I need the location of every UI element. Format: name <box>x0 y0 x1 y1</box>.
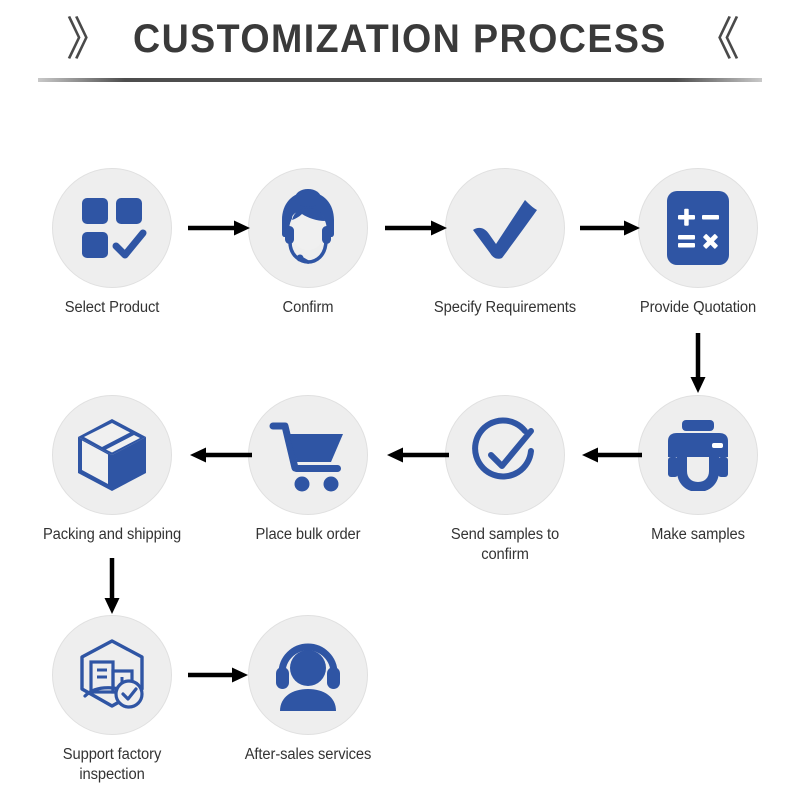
title-row: 》 CUSTOMIZATION PROCESS 《 <box>0 8 800 70</box>
step-after-sales-services[interactable]: After-sales services <box>228 615 388 765</box>
step-select-product[interactable]: Select Product <box>32 168 192 318</box>
package-box-icon <box>72 415 152 495</box>
arrow-select-to-confirm <box>188 219 252 237</box>
arrow-send-samples-to-bulk-order <box>385 446 449 464</box>
step-icon-bubble <box>52 395 172 515</box>
step-icon-bubble <box>52 168 172 288</box>
step-make-samples[interactable]: Make samples <box>618 395 778 545</box>
circle-check-icon <box>467 417 543 493</box>
checkmark-icon <box>467 190 543 266</box>
factory-inspection-icon <box>73 636 151 714</box>
step-packing-and-shipping[interactable]: Packing and shipping <box>32 395 192 545</box>
shopping-cart-icon <box>269 418 347 492</box>
page-header: 》 CUSTOMIZATION PROCESS 《 <box>0 0 800 95</box>
chevron-double-left-icon: 《 <box>694 16 734 62</box>
step-label: Make samples <box>622 525 774 545</box>
arrow-bulk-order-to-packing <box>188 446 252 464</box>
step-label: After-sales services <box>232 745 384 765</box>
printer-icon <box>660 419 736 491</box>
arrow-specify-to-quotation <box>580 219 642 237</box>
step-label: Place bulk order <box>232 525 384 545</box>
arrow-make-samples-to-send-samples <box>580 446 642 464</box>
step-icon-bubble <box>248 168 368 288</box>
step-label: Specify Requirements <box>429 298 581 318</box>
title-divider <box>38 78 762 82</box>
step-icon-bubble <box>445 168 565 288</box>
step-label: Support factory inspection <box>36 745 188 785</box>
chevron-double-right-icon: 》 <box>66 16 106 62</box>
arrow-quotation-to-make-samples <box>688 333 708 395</box>
step-icon-bubble <box>248 395 368 515</box>
step-place-bulk-order[interactable]: Place bulk order <box>228 395 388 545</box>
arrow-inspection-to-aftersales <box>188 666 250 684</box>
page-title: CUSTOMIZATION PROCESS <box>133 17 667 62</box>
step-confirm[interactable]: Confirm <box>228 168 388 318</box>
step-label: Confirm <box>232 298 384 318</box>
step-icon-bubble <box>638 395 758 515</box>
calculator-icon <box>663 189 733 267</box>
step-label: Packing and shipping <box>36 525 188 545</box>
step-support-factory-inspection[interactable]: Support factory inspection <box>32 615 192 785</box>
step-icon-bubble <box>52 615 172 735</box>
step-provide-quotation[interactable]: Provide Quotation <box>618 168 778 318</box>
headset-person-icon <box>270 639 346 711</box>
grid-check-icon <box>76 192 148 264</box>
arrow-confirm-to-specify <box>385 219 449 237</box>
step-label: Provide Quotation <box>622 298 774 318</box>
step-icon-bubble <box>248 615 368 735</box>
customization-process-infographic: 》 CUSTOMIZATION PROCESS 《 Select Product <box>0 0 800 800</box>
arrow-packing-to-inspection <box>102 558 122 616</box>
step-label: Select Product <box>36 298 188 318</box>
step-icon-bubble <box>445 395 565 515</box>
step-label: Send samples to confirm <box>429 525 581 565</box>
support-agent-icon <box>268 188 348 268</box>
step-specify-requirements[interactable]: Specify Requirements <box>425 168 585 318</box>
step-send-samples-to-confirm[interactable]: Send samples to confirm <box>425 395 585 565</box>
step-icon-bubble <box>638 168 758 288</box>
